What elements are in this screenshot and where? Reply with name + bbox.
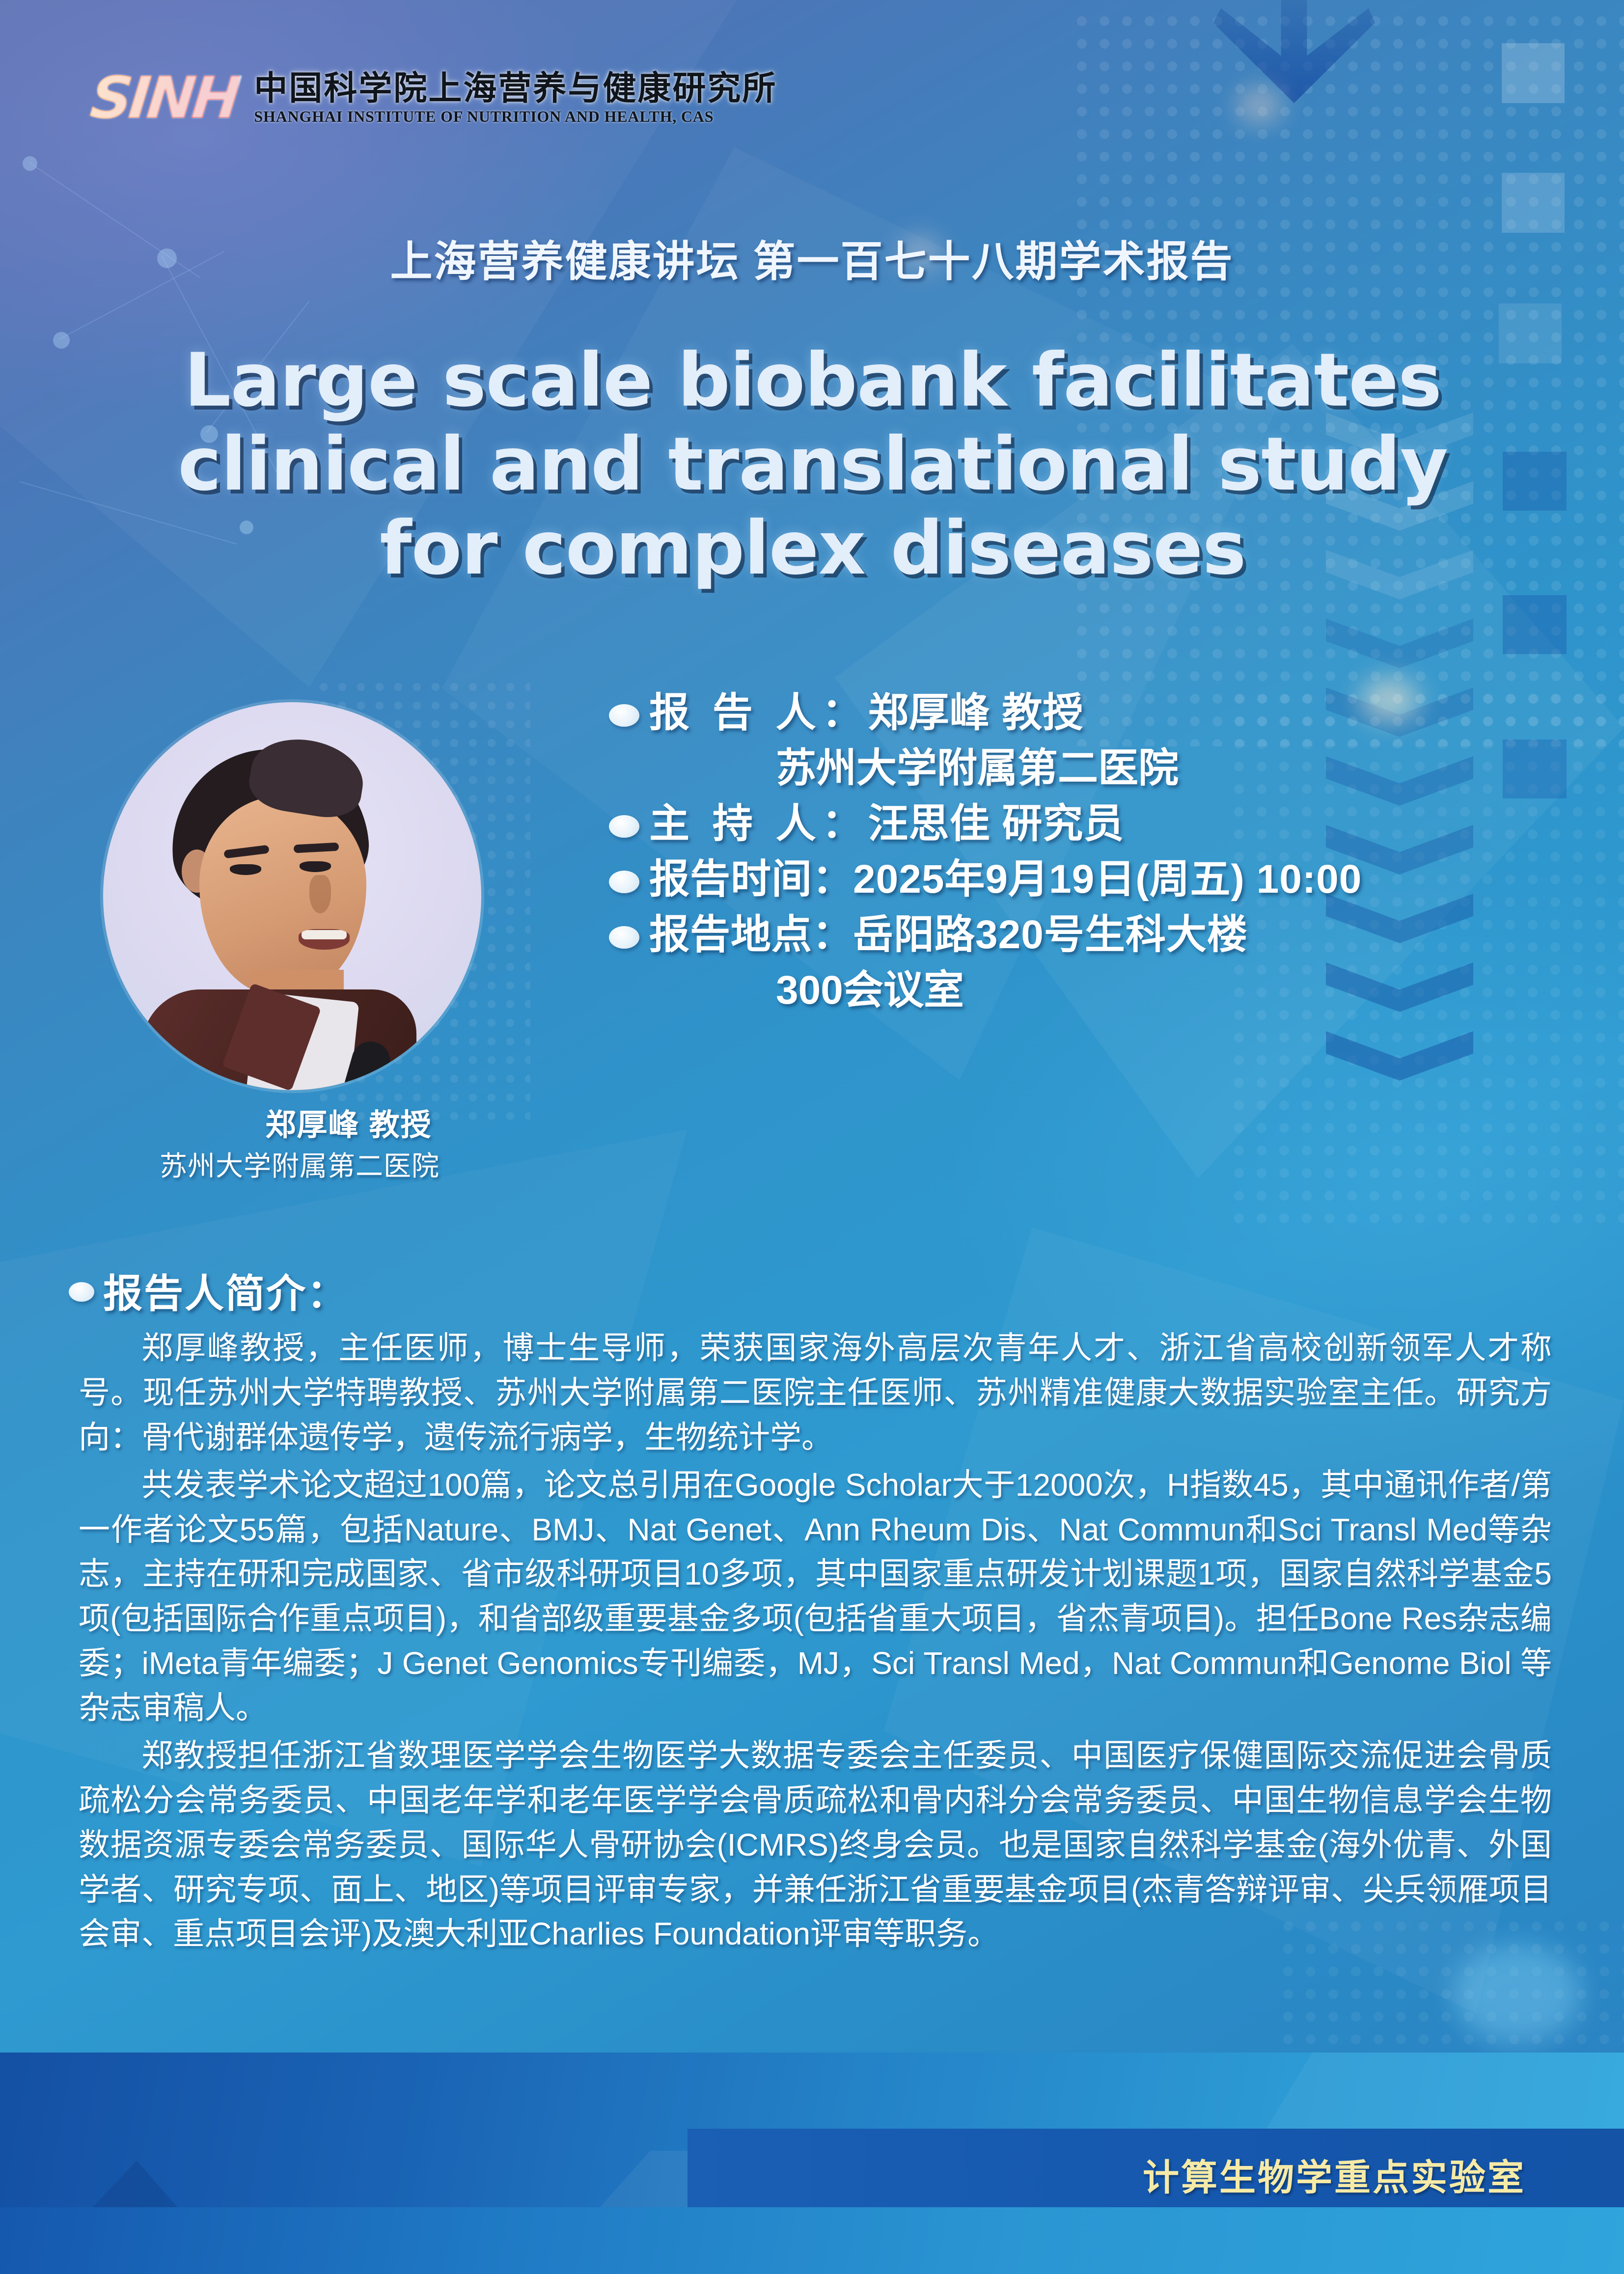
institute-name-cn: 中国科学院上海营养与健康研究所 xyxy=(254,72,777,105)
institute-name-block: 中国科学院上海营养与健康研究所 SHANGHAI INSTITUTE OF NU… xyxy=(254,72,777,124)
lecture-title: Large scale biobank facilitates clinical… xyxy=(108,339,1517,591)
event-info-list: 报 告 人：郑厚峰 教授 苏州大学附属第二医院 主 持 人：汪思佳 研究员 报告… xyxy=(609,687,1591,1020)
info-host-label: 主 持 人： xyxy=(649,801,868,846)
institute-name-en: SHANGHAI INSTITUTE OF NUTRITION AND HEAL… xyxy=(254,109,777,124)
bullet-icon xyxy=(69,1282,94,1302)
sinh-logo-mark: SINH xyxy=(88,69,241,127)
bio-paragraph: 郑教授担任浙江省数理医学学会生物医学大数据专委会主任委员、中国医疗保健国际交流促… xyxy=(79,1733,1552,1956)
chevron-down-icon xyxy=(1326,1031,1473,1090)
network-node xyxy=(53,332,70,349)
info-venue-room: 300会议室 xyxy=(609,965,1591,1016)
info-row-host: 主 持 人：汪思佳 研究员 xyxy=(609,798,1591,850)
info-time-text: 报告时间：2025年9月19日(周五) 10:00 xyxy=(649,854,1362,905)
info-host-value: 汪思佳 研究员 xyxy=(868,801,1125,846)
portrait-nose xyxy=(309,875,331,913)
bio-heading-label: 报告人简介： xyxy=(103,1262,348,1319)
bio-paragraph: 共发表学术论文超过100篇，论文总引用在Google Scholar大于1200… xyxy=(79,1463,1552,1730)
square-accent xyxy=(1502,43,1565,103)
portrait-mouth xyxy=(299,929,350,950)
poster-root: SINH 中国科学院上海营养与健康研究所 SHANGHAI INSTITUTE … xyxy=(0,0,1624,2274)
info-row-time: 报告时间：2025年9月19日(周五) 10:00 xyxy=(609,854,1591,905)
info-speaker-value: 郑厚峰 教授 xyxy=(868,690,1084,735)
square-accent xyxy=(1503,595,1567,654)
portrait-teeth xyxy=(302,930,347,939)
bio-paragraph: 郑厚峰教授，主任医师，博士生导师，荣获国家海外高层次青年人才、浙江省高校创新领军… xyxy=(79,1326,1552,1460)
bullet-icon xyxy=(609,926,639,949)
info-host-text: 主 持 人：汪思佳 研究员 xyxy=(649,798,1124,850)
info-speaker-text: 报 告 人：郑厚峰 教授 xyxy=(649,687,1083,739)
square-accent xyxy=(1502,173,1565,233)
glow-accent xyxy=(1238,88,1282,123)
series-subtitle: 上海营养健康讲坛 第一百七十八期学术报告 xyxy=(0,227,1624,288)
bio-heading: 报告人简介： xyxy=(69,1262,348,1319)
bio-body: 郑厚峰教授，主任医师，博士生导师，荣获国家海外高层次青年人才、浙江省高校创新领军… xyxy=(79,1326,1552,1959)
info-venue-value: 岳阳路320号生科大楼 xyxy=(853,912,1248,957)
photo-caption-name: 郑厚峰 教授 xyxy=(192,1100,506,1144)
down-arrow-icon xyxy=(1213,0,1375,103)
info-time-label: 报告时间： xyxy=(649,857,853,902)
institute-logo: SINH 中国科学院上海营养与健康研究所 SHANGHAI INSTITUTE … xyxy=(91,69,777,127)
bullet-icon xyxy=(609,704,639,727)
info-venue-label: 报告地点： xyxy=(649,912,853,957)
bullet-icon xyxy=(609,815,639,838)
info-speaker-label: 报 告 人： xyxy=(649,690,868,735)
speaker-photo xyxy=(103,702,481,1090)
bullet-icon xyxy=(609,871,639,893)
info-venue-text: 报告地点：岳阳路320号生科大楼 xyxy=(649,909,1248,961)
speaker-portrait-image xyxy=(103,702,481,1090)
photo-caption-affiliation: 苏州大学附属第二医院 xyxy=(98,1144,501,1184)
portrait-eye xyxy=(230,864,261,875)
footer-bottom-strip xyxy=(0,2207,1624,2274)
portrait-face xyxy=(199,796,366,995)
network-node xyxy=(23,156,37,171)
footer-lab-name: 计算生物学重点实验室 xyxy=(1143,2148,1526,2201)
info-row-venue: 报告地点：岳阳路320号生科大楼 xyxy=(609,909,1591,961)
portrait-eye xyxy=(300,861,331,872)
info-time-value: 2025年9月19日(周五) 10:00 xyxy=(853,857,1362,902)
info-speaker-affiliation: 苏州大学附属第二医院 xyxy=(609,743,1591,795)
chevron-down-icon xyxy=(1326,619,1473,678)
info-row-speaker: 报 告 人：郑厚峰 教授 xyxy=(609,687,1591,739)
